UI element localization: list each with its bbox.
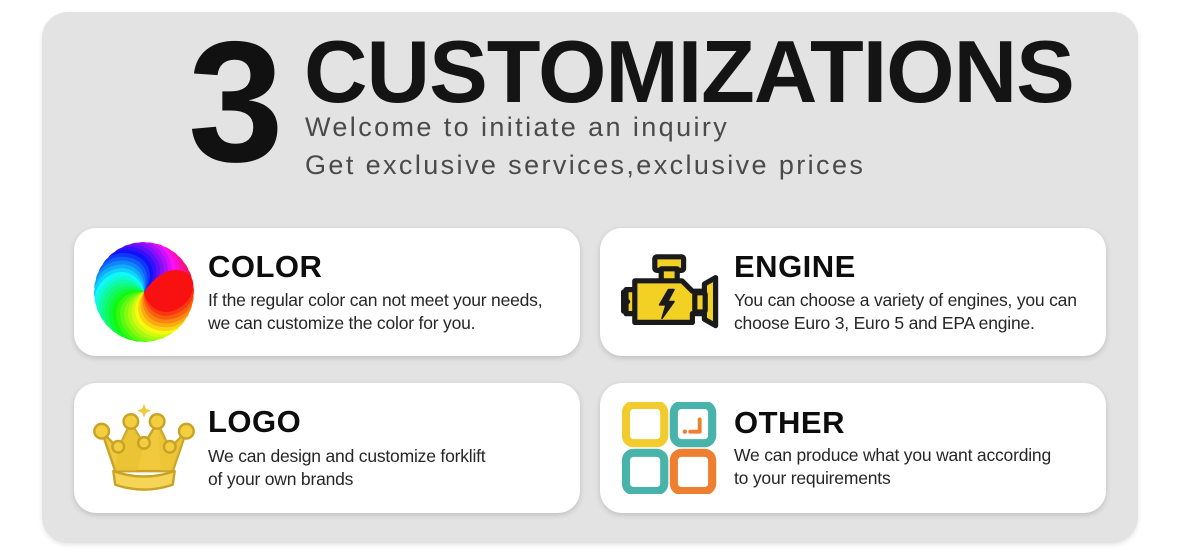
content-panel: 3 CUSTOMIZATIONS Welcome to initiate an … — [42, 12, 1138, 543]
card-title: OTHER — [734, 406, 1096, 439]
card-text-logo: LOGO We can design and customize forklif… — [208, 405, 580, 491]
card-description: If the regular color can not meet your n… — [208, 289, 570, 335]
card-text-engine: ENGINE You can choose a variety of engin… — [734, 250, 1106, 335]
subtitle-line-2: Get exclusive services,exclusive prices — [305, 150, 865, 180]
headline-number: 3 — [188, 16, 280, 188]
crown-icon — [80, 391, 208, 505]
engine-icon — [606, 237, 734, 347]
color-wheel-icon — [80, 237, 208, 347]
card-description: We can produce what you want according t… — [734, 444, 1096, 490]
subtitle-line-1: Welcome to initiate an inquiry — [305, 112, 729, 142]
feature-card-color[interactable]: COLOR If the regular color can not meet … — [74, 228, 580, 356]
feature-card-engine[interactable]: ENGINE You can choose a variety of engin… — [600, 228, 1106, 356]
feature-card-other[interactable]: OTHER We can produce what you want accor… — [600, 383, 1106, 513]
card-description: We can design and customize forklift of … — [208, 445, 570, 491]
card-text-other: OTHER We can produce what you want accor… — [734, 406, 1106, 490]
header-block: 3 CUSTOMIZATIONS Welcome to initiate an … — [42, 12, 1138, 208]
feature-card-logo[interactable]: LOGO We can design and customize forklif… — [74, 383, 580, 513]
card-description: You can choose a variety of engines, you… — [734, 289, 1096, 335]
infographic-canvas: 3 CUSTOMIZATIONS Welcome to initiate an … — [0, 0, 1180, 558]
four-squares-icon — [606, 391, 734, 505]
page-title: CUSTOMIZATIONS — [304, 26, 1074, 118]
card-title: LOGO — [208, 405, 570, 438]
card-title: COLOR — [208, 250, 570, 283]
card-text-color: COLOR If the regular color can not meet … — [208, 250, 580, 335]
card-title: ENGINE — [734, 250, 1096, 283]
